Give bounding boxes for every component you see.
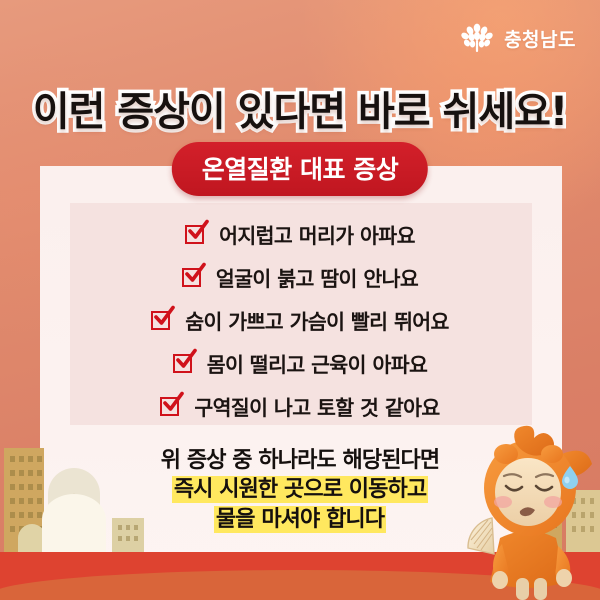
checkbox-checked-icon	[151, 309, 174, 332]
list-item: 몸이 떨리고 근육이 아파요	[0, 343, 600, 383]
list-item: 어지럽고 머리가 아파요	[0, 214, 600, 254]
poster-canvas: 충청남도 이런 증상이 있다면 바로 쉬세요! 온열질환 대표 증상 어지럽고 …	[0, 0, 600, 600]
checkbox-checked-icon	[173, 352, 196, 375]
checkbox-checked-icon	[185, 223, 208, 246]
chungnam-blossom-emblem-icon	[459, 22, 495, 54]
list-item: 얼굴이 붉고 땀이 안나요	[0, 257, 600, 297]
orange-hooded-mascot-fanning-icon	[458, 410, 598, 600]
brand-logo: 충청남도	[459, 22, 576, 54]
list-item-label: 몸이 떨리고 근육이 아파요	[207, 348, 427, 378]
logo-text: 충청남도	[504, 25, 576, 52]
list-item: 숨이 가쁘고 가슴이 빨리 뛰어요	[0, 300, 600, 340]
list-item-label: 어지럽고 머리가 아파요	[219, 219, 415, 249]
list-item-label: 숨이 가쁘고 가슴이 빨리 뛰어요	[185, 305, 449, 335]
page-title: 이런 증상이 있다면 바로 쉬세요!	[0, 79, 600, 137]
symptom-list: 어지럽고 머리가 아파요 얼굴이 붉고 땀이 안나요 숨이 가쁘고 가슴이 빨리…	[0, 214, 600, 429]
checkbox-checked-icon	[182, 266, 205, 289]
list-item-label: 구역질이 나고 토할 것 같아요	[194, 391, 439, 421]
list-item-label: 얼굴이 붉고 땀이 안나요	[216, 262, 418, 292]
checkbox-checked-icon	[160, 395, 183, 418]
section-badge: 온열질환 대표 증상	[172, 142, 428, 196]
